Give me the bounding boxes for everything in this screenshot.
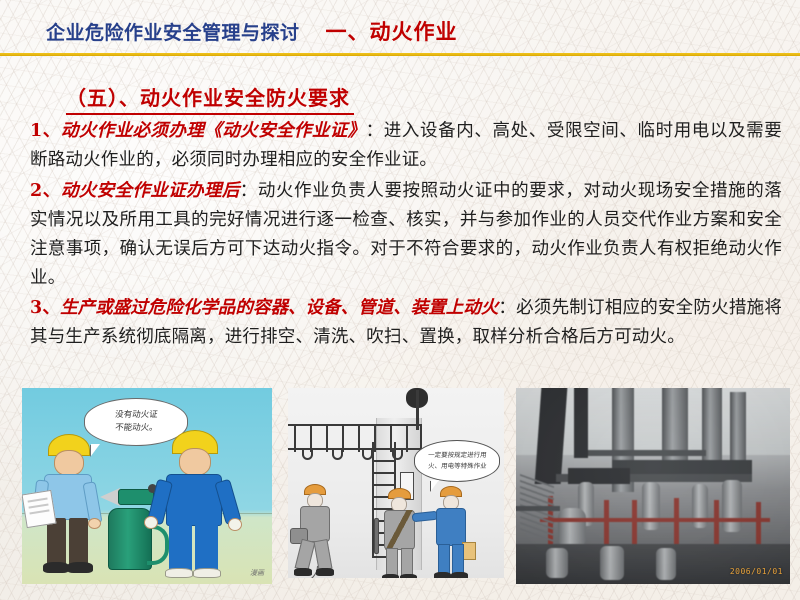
hook-icon [302,448,313,460]
worker-leg-left [169,524,192,572]
worker-shoe-left [43,562,69,573]
illustration-signature: 漫画 [250,568,264,578]
header-title-row: 企业危险作业安全管理与探讨 一、动火作业 [46,16,458,46]
paragraph-1-emphasis: 动火作业必须办理《动火安全作业证》 [61,121,366,141]
speech-bubble-1-line2: 不能动火。 [114,422,158,435]
worker-shoe-left [165,568,193,578]
chapter-title: 一、动火作业 [326,16,458,46]
worker-hand [88,518,101,529]
slide-canvas: 企业危险作业安全管理与探讨 一、动火作业 （五）、动火作业安全防火要求 1、动火… [0,0,800,600]
fan-pole [416,390,419,430]
paragraph-1-number: 1、 [30,121,61,141]
hook-icon [332,448,343,460]
ladder-rung [372,448,396,450]
photo-blur-overlay [516,388,790,584]
document-folder-icon [462,542,476,560]
worker-glove-right [228,518,242,531]
speech-bubble-1-tail [91,444,100,456]
worker-leg-right [452,544,464,574]
worker-shoe-left [382,574,399,578]
header-divider-rule [0,53,800,56]
worker-leg-right [69,518,88,566]
worker-shoe-left [294,568,312,576]
speech-bubble-2-tail [431,480,439,491]
illustration-special-work-sketch: 一定要按规定进行用 火、用电等特殊作业 [288,388,504,578]
worker-leg-right [195,524,218,572]
worker-head [54,450,84,476]
welding-torch-icon [100,484,158,510]
speech-bubble-1-line1: 没有动火证 [114,409,158,422]
paragraph-1-colon: ： [366,121,384,141]
pointing-arm [412,511,439,523]
paragraph-2-number: 2、 [30,181,61,201]
content-area: （五）、动火作业安全防火要求 1、动火作业必须办理《动火安全作业证》：进入设备内… [0,62,800,380]
paragraph-3-colon: ： [498,298,516,318]
worker-torso [166,474,222,526]
torch-nozzle [100,488,120,506]
worker-leg-left [438,544,450,574]
paragraph-3-emphasis: 生产或盛过危险化学品的容器、设备、管道、装置上动火 [60,298,498,318]
illustration-hot-work-permit-cartoon: 没有动火证 不能动火。 [22,388,272,584]
paragraph-2-emphasis: 动火安全作业证办理后 [61,181,240,201]
worker-head [179,448,211,476]
worker-shoe-right [451,572,468,578]
worker-shoe-right [193,568,221,578]
photo-date-stamp: 2006/01/01 [730,567,783,576]
scaffold-hooks [292,448,420,460]
worker-shoe-left [434,572,451,578]
photo-refinery-plant: 2006/01/01 [516,388,790,584]
worker-shoe-right [400,574,417,578]
speech-bubble-2-line2: 火、用电等特殊作业 [427,461,487,472]
scaffold-railing [288,424,422,450]
worker-shoe-right [316,568,334,576]
section-heading: （五）、动火作业安全防火要求 [66,82,354,115]
safety-harness-strap [384,510,414,550]
worker-shoe-right [67,562,93,573]
paragraph-2-colon: ： [240,181,258,201]
worker-leg-right [401,548,413,576]
paragraph-3-number: 3、 [30,298,60,318]
paragraph-3: 3、生产或盛过危险化学品的容器、设备、管道、装置上动火：必须先制订相应的安全防火… [30,294,782,352]
ladder-rung [372,484,396,486]
speech-bubble-1: 没有动火证 不能动火。 [84,398,188,446]
ladder-rung [372,460,396,462]
speech-bubble-2: 一定要按规定进行用 火、用电等特殊作业 [414,440,500,482]
worker-torso [436,508,466,546]
worker-leg-left [386,548,398,576]
wrench-icon [374,518,379,554]
paragraph-2: 2、动火安全作业证办理后：动火作业负责人要按照动火证中的要求，对动火现场安全措施… [30,177,782,293]
worker-leg-left [47,518,66,566]
course-title: 企业危险作业安全管理与探讨 [46,18,300,45]
speech-bubble-2-line1: 一定要按规定进行用 [427,450,487,461]
slide-header: 企业危险作业安全管理与探讨 一、动火作业 [0,0,800,54]
paragraph-1: 1、动火作业必须办理《动火安全作业证》：进入设备内、高处、受限空间、临时用电以及… [30,117,782,175]
clipboard-icon [22,490,56,528]
ladder-rung [372,472,396,474]
picture-strip: 没有动火证 不能动火。 [0,388,800,588]
worker-glove-left [144,516,158,529]
